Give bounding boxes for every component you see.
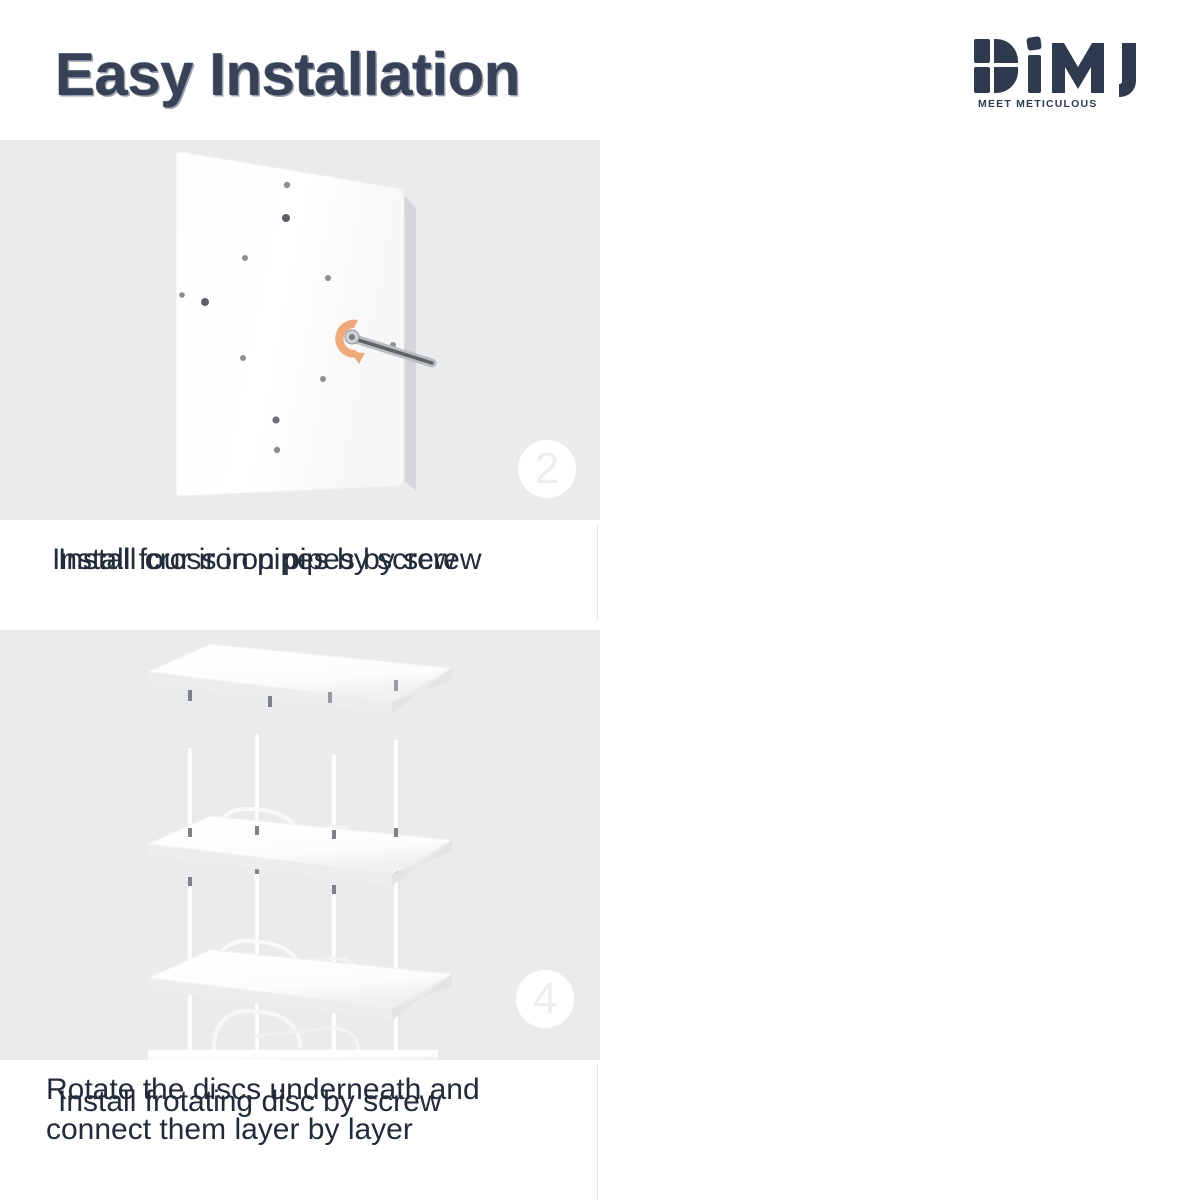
- step-badge-2: 2: [518, 440, 576, 498]
- step-card-2: 2 Install four iron pipes by screw: [0, 140, 600, 622]
- step-badge-4: 4: [516, 970, 574, 1028]
- scene-upright-board-rotation: [0, 140, 600, 520]
- iron-pipe-rod-icon: [0, 140, 600, 520]
- step-2-illustration: 2: [0, 140, 600, 520]
- step-card-4: 4 Rotate the discs underneath and connec…: [0, 630, 600, 1200]
- brand-logo: MEET METICULOUS: [972, 35, 1162, 120]
- multi-tier-shelf-icon: [0, 630, 600, 1060]
- infographic-page: Easy Installation MEET: [0, 0, 1200, 1200]
- step-caption-4: Rotate the discs underneath and connect …: [46, 1070, 600, 1149]
- steps-grid: 1 Install cross iron pipes by screw: [0, 140, 1200, 1200]
- step-caption-4-text: Rotate the discs underneath and connect …: [46, 1070, 546, 1149]
- scene-stacked-shelves: [0, 630, 600, 1060]
- logo-wordmark-icon: [972, 35, 1162, 97]
- page-title: Easy Installation: [55, 40, 520, 109]
- step-4-illustration: 4: [0, 630, 600, 1060]
- logo-tagline: MEET METICULOUS: [978, 98, 1098, 110]
- header: Easy Installation MEET: [0, 0, 1200, 140]
- step-caption-2: Install four iron pipes by screw: [52, 540, 600, 580]
